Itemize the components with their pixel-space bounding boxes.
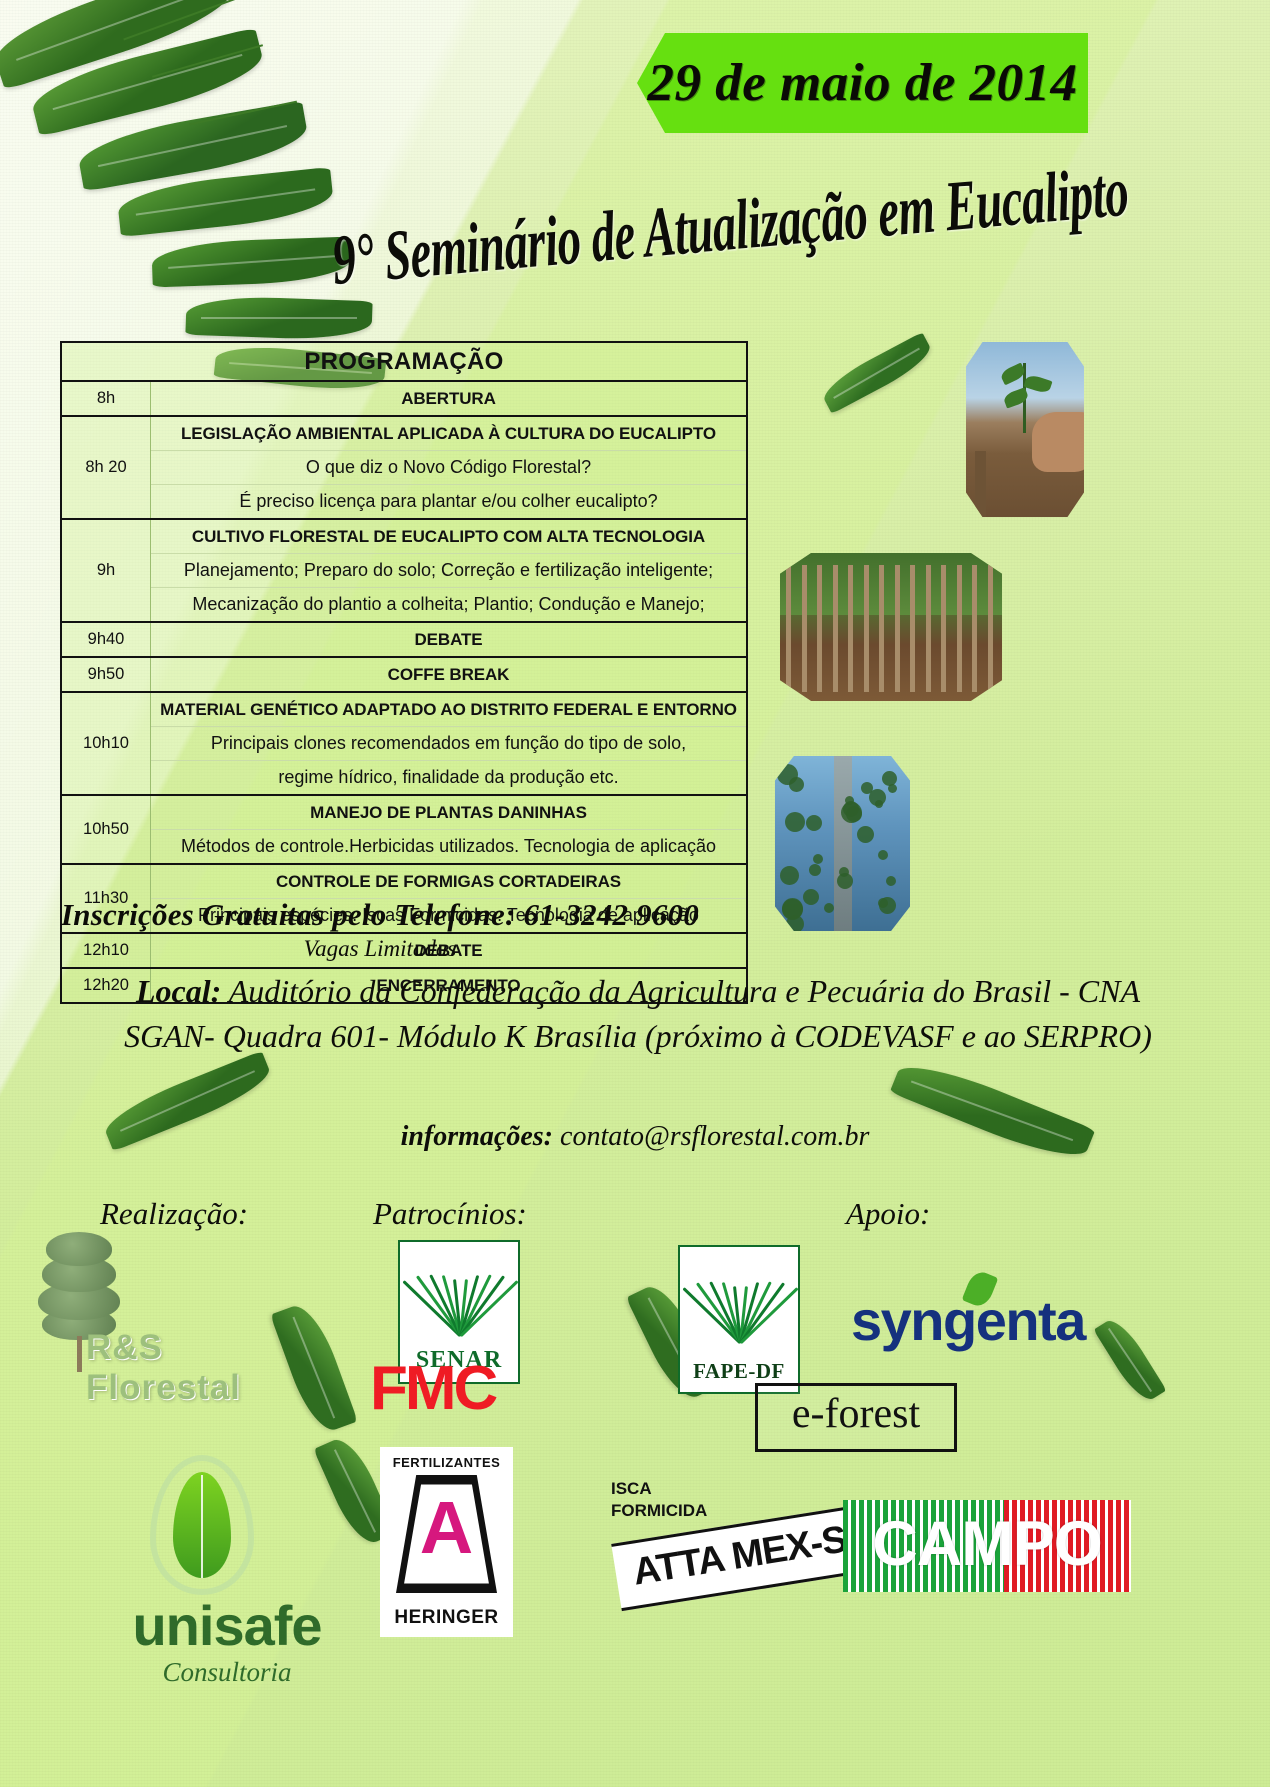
- section-heading-patrocinios: Patrocínios:: [373, 1196, 527, 1232]
- canopy-leaf: [813, 854, 823, 864]
- table-row: 11h30CONTROLE DE FORMIGAS CORTADEIRAS: [61, 864, 747, 899]
- logo-heringer: FERTILIZANTES A HERINGER: [380, 1447, 513, 1637]
- table-row: Mecanização do plantio a colheita; Plant…: [61, 588, 747, 623]
- schedule-header-label: PROGRAMAÇÃO: [61, 342, 747, 381]
- tree-trunk: [817, 565, 822, 692]
- table-row: Principais clones recomendados em função…: [61, 727, 747, 761]
- table-row: O que diz o Novo Código Florestal?: [61, 451, 747, 485]
- logo-fmc-text: FMC: [370, 1360, 540, 1418]
- schedule-topic-cell: DEBATE: [151, 622, 748, 657]
- table-row: 9h40DEBATE: [61, 622, 747, 657]
- photo-eucalyptus-plantation: [780, 553, 1002, 701]
- canopy-leaf: [845, 796, 854, 805]
- schedule-topic-cell: LEGISLAÇÃO AMBIENTAL APLICADA À CULTURA …: [151, 416, 748, 451]
- leaf-icon: [1093, 1314, 1166, 1406]
- contact-info-line: informações: contato@rsflorestal.com.br: [0, 1121, 1270, 1153]
- logo-campo: CAMPO: [843, 1500, 1131, 1592]
- canopy-leaf: [780, 866, 799, 885]
- event-date-text: 29 de maio de 2014: [648, 53, 1078, 113]
- logo-e-forest: e-forest: [755, 1383, 957, 1452]
- logo-rs-florestal: R&S Florestal: [18, 1232, 328, 1392]
- logo-campo-text: CAMPO: [843, 1508, 1131, 1580]
- fape-fan-icon: [696, 1257, 782, 1343]
- schedule-time-cell: 10h10: [61, 692, 151, 795]
- section-heading-apoio: Apoio:: [846, 1196, 930, 1232]
- location-label: Local:: [136, 973, 221, 1009]
- canopy-leaf: [841, 802, 862, 823]
- canopy-leaf: [878, 898, 888, 908]
- schedule-detail-cell: O que diz o Novo Código Florestal?: [151, 451, 748, 485]
- leaf-icon: [116, 167, 335, 237]
- logo-heringer-top-text: FERTILIZANTES: [380, 1455, 513, 1470]
- table-row: Planejamento; Preparo do solo; Correção …: [61, 554, 747, 588]
- tree-trunk: [802, 565, 807, 692]
- contact-info-label: informações:: [401, 1121, 553, 1152]
- canopy-leaf: [824, 903, 834, 913]
- tree-trunk: [957, 565, 962, 692]
- canopy-leaf: [857, 826, 874, 843]
- limited-seats-note: Vagas Limitadas: [0, 936, 760, 962]
- logo-unisafe: unisafe Consultoria: [92, 1455, 362, 1705]
- canopy-leaf: [789, 777, 804, 792]
- table-row: regime hídrico, finalidade da produção e…: [61, 761, 747, 796]
- canopy-leaf: [875, 800, 883, 808]
- schedule-detail-cell: Principais clones recomendados em função…: [151, 727, 748, 761]
- senar-fan-icon: [416, 1252, 502, 1336]
- schedule-detail-cell: regime hídrico, finalidade da produção e…: [151, 761, 748, 796]
- logo-heringer-bottom-text: HERINGER: [380, 1607, 513, 1629]
- schedule-detail-cell: É preciso licença para plantar e/ou colh…: [151, 485, 748, 520]
- event-date-badge: 29 de maio de 2014: [637, 33, 1088, 133]
- leaf-stem: [189, 101, 297, 126]
- schedule-time-cell: 10h50: [61, 795, 151, 864]
- logo-fape-df: FAPE-DF: [678, 1245, 800, 1394]
- location-line-2: SGAN- Quadra 601- Módulo K Brasília (pró…: [22, 1018, 1254, 1055]
- poster-title-wrapper: 9° Seminário de Atualização em Eucalipto: [330, 226, 1120, 336]
- logo-rs-florestal-text: R&S Florestal: [86, 1328, 328, 1408]
- table-row: É preciso licença para plantar e/ou colh…: [61, 485, 747, 520]
- tree-foliage-layer: [46, 1232, 112, 1266]
- leaf-icon: [0, 0, 243, 90]
- logo-unisafe-sub: Consultoria: [92, 1657, 362, 1688]
- table-row: 9hCULTIVO FLORESTAL DE EUCALIPTO COM ALT…: [61, 519, 747, 554]
- table-row: 8h 20LEGISLAÇÃO AMBIENTAL APLICADA À CUL…: [61, 416, 747, 451]
- fence-post: [975, 451, 986, 518]
- registration-phone: Inscrições Gratuitas pelo Telefone: 61-3…: [0, 897, 760, 933]
- logo-unisafe-name: unisafe: [92, 1593, 362, 1658]
- canopy-leaf: [785, 812, 805, 832]
- schedule-topic-cell: MATERIAL GENÉTICO ADAPTADO AO DISTRITO F…: [151, 692, 748, 727]
- canopy-leaf: [782, 899, 803, 920]
- schedule-time-cell: 9h40: [61, 622, 151, 657]
- location-line-1: Local: Auditório da Confederação da Agri…: [22, 973, 1254, 1010]
- canopy-leaf: [886, 876, 896, 886]
- canopy-leaf: [837, 873, 853, 889]
- canopy-leaf: [809, 864, 821, 876]
- logo-fmc: FMC: [370, 1360, 540, 1422]
- schedule-detail-cell: Mecanização do plantio a colheita; Plant…: [151, 588, 748, 623]
- location-text-1: Auditório da Confederação da Agricultura…: [221, 973, 1140, 1009]
- schedule-time-cell: 9h: [61, 519, 151, 622]
- schedule-detail-cell: Métodos de controle.Herbicidas utilizado…: [151, 830, 748, 865]
- heringer-mark-icon: A: [396, 1475, 497, 1593]
- schedule-topic-cell: CULTIVO FLORESTAL DE EUCALIPTO COM ALTA …: [151, 519, 748, 554]
- tree-trunk: [864, 565, 869, 692]
- table-row: 9h50COFFE BREAK: [61, 657, 747, 692]
- schedule-time-cell: 8h: [61, 381, 151, 416]
- tree-trunk: [834, 756, 852, 931]
- canopy-leaf: [803, 889, 819, 905]
- leaf-stem: [152, 44, 263, 78]
- contact-email[interactable]: contato@rsflorestal.com.br: [560, 1121, 869, 1152]
- logo-fape-df-text: FAPE-DF: [680, 1359, 798, 1384]
- tree-trunk: [988, 565, 993, 692]
- table-row: 8hABERTURA: [61, 381, 747, 416]
- schedule-topic-cell: COFFE BREAK: [151, 657, 748, 692]
- schedule-time-cell: 9h50: [61, 657, 151, 692]
- section-heading-realizacao: Realização:: [100, 1196, 248, 1232]
- hand: [1032, 412, 1084, 472]
- leaf-icon: [27, 27, 268, 136]
- schedule-time-cell: 8h 20: [61, 416, 151, 519]
- logo-heringer-letter: A: [420, 1492, 473, 1564]
- seedling-leaf: [1023, 373, 1052, 394]
- tree-trunk: [941, 565, 946, 692]
- schedule-topic-cell: MANEJO DE PLANTAS DANINHAS: [151, 795, 748, 830]
- photo-seedling: [966, 342, 1084, 517]
- tree-trunk: [895, 565, 900, 692]
- logo-atta-mex-s: ISCA FORMICIDA ATTA MEX-S ®: [607, 1478, 867, 1598]
- tree-trunk: [786, 565, 791, 692]
- unisafe-leaf-icon: [150, 1455, 254, 1595]
- tree-trunk: [879, 565, 884, 692]
- canopy-leaf: [882, 771, 897, 786]
- table-row: 10h10MATERIAL GENÉTICO ADAPTADO AO DISTR…: [61, 692, 747, 727]
- tree-trunk: [910, 565, 915, 692]
- leaf-icon: [151, 237, 352, 288]
- schedule-detail-cell: Planejamento; Preparo do solo; Correção …: [151, 554, 748, 588]
- leaf-stem: [123, 0, 236, 40]
- schedule-topic-cell: ABERTURA: [151, 381, 748, 416]
- table-row: 10h50MANEJO DE PLANTAS DANINHAS: [61, 795, 747, 830]
- logo-atta-isca-text: ISCA FORMICIDA: [611, 1478, 707, 1522]
- table-row: Métodos de controle.Herbicidas utilizado…: [61, 830, 747, 865]
- tree-trunk: [848, 565, 853, 692]
- canopy-leaf: [878, 850, 888, 860]
- tree-trunk: [926, 565, 931, 692]
- schedule-topic-cell: CONTROLE DE FORMIGAS CORTADEIRAS: [151, 864, 748, 899]
- page-title: 9° Seminário de Atualização em Eucalipto: [329, 150, 1131, 301]
- canopy: [780, 553, 1002, 615]
- leaf-icon: [818, 332, 936, 414]
- logo-syngenta: syngenta: [851, 1290, 1081, 1360]
- logo-e-forest-text: e-forest: [758, 1390, 954, 1438]
- schedule-header-row: PROGRAMAÇÃO: [61, 342, 747, 381]
- tree-trunk: [972, 565, 977, 692]
- photo-canopy-upward: [775, 756, 910, 931]
- canopy-leaf: [806, 815, 822, 831]
- tree-trunk: [833, 565, 838, 692]
- leaf-icon: [75, 100, 311, 191]
- logo-atta-name: ATTA MEX-S: [613, 1516, 867, 1598]
